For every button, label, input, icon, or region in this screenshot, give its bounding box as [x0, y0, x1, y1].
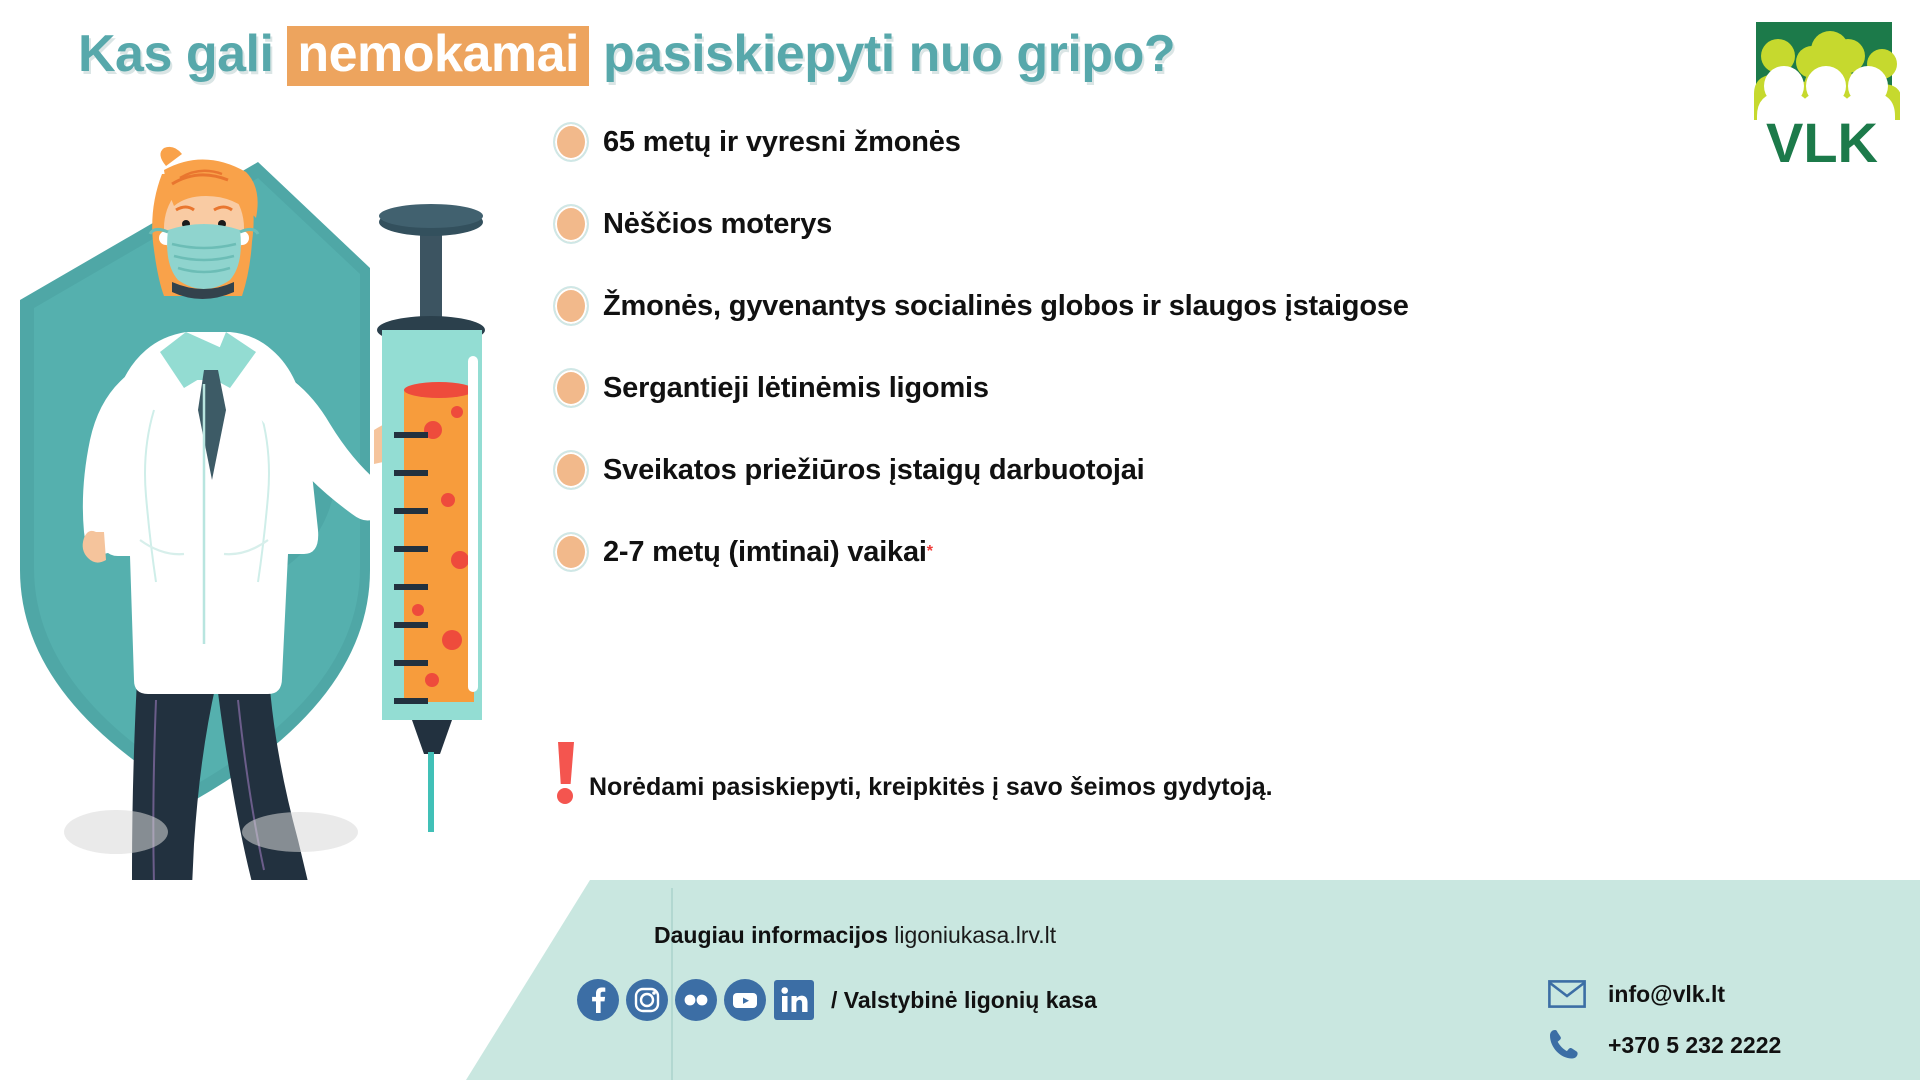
exclamation-mark-icon — [553, 742, 579, 804]
list-item-label: 2-7 metų (imtinai) vaikai — [603, 536, 927, 569]
phone-contact: +370 5 232 2222 — [1548, 1028, 1781, 1062]
list-item-label: Sveikatos priežiūros įstaigų darbuotojai — [603, 454, 1145, 487]
flickr-icon[interactable] — [674, 978, 723, 1022]
page-title: Kas gali nemokamai pasiskiepyti nuo grip… — [78, 24, 1175, 86]
title-part-1: Kas gali — [78, 25, 287, 83]
bullet-icon — [553, 122, 589, 162]
doctor-with-syringe-illustration — [0, 140, 560, 880]
eligibility-list: 65 metų ir vyresni žmonės Nėščios motery… — [553, 122, 1893, 614]
list-item: Nėščios moterys — [553, 204, 1893, 244]
linkedin-icon[interactable] — [772, 978, 821, 1022]
title-highlight: nemokamai — [287, 26, 589, 86]
advisory-note-text: Norėdami pasiskiepyti, kreipkitės į savo… — [589, 773, 1273, 804]
youtube-icon[interactable] — [723, 978, 772, 1022]
bullet-icon — [553, 286, 589, 326]
asterisk-marker: * — [927, 543, 933, 561]
list-item: 65 metų ir vyresni žmonės — [553, 122, 1893, 162]
email-address[interactable]: info@vlk.lt — [1608, 981, 1725, 1008]
list-item: 2-7 metų (imtinai) vaikai * — [553, 532, 1893, 572]
bullet-icon — [553, 204, 589, 244]
list-item-label: Nėščios moterys — [603, 208, 832, 241]
list-item: Žmonės, gyvenantys socialinės globos ir … — [553, 286, 1893, 326]
bullet-icon — [553, 532, 589, 572]
list-item-label: Žmonės, gyvenantys socialinės globos ir … — [603, 290, 1409, 323]
email-contact: info@vlk.lt — [1548, 980, 1725, 1008]
envelope-icon — [1548, 980, 1608, 1008]
bullet-icon — [553, 450, 589, 490]
facebook-icon[interactable] — [576, 978, 625, 1022]
social-handle-label: / Valstybinė ligonių kasa — [831, 987, 1097, 1014]
list-item: Sveikatos priežiūros įstaigų darbuotojai — [553, 450, 1893, 490]
more-info-line: Daugiau informacijos ligoniukasa.lrv.lt — [654, 922, 1056, 949]
list-item-label: Sergantieji lėtinėmis ligomis — [603, 372, 989, 405]
more-info-label: Daugiau informacijos — [654, 922, 888, 948]
poster-root: Kas gali nemokamai pasiskiepyti nuo grip… — [0, 0, 1920, 1080]
title-part-2: pasiskiepyti nuo gripo? — [589, 25, 1175, 83]
instagram-icon[interactable] — [625, 978, 674, 1022]
list-item-label: 65 metų ir vyresni žmonės — [603, 126, 961, 159]
bullet-icon — [553, 368, 589, 408]
social-links: / Valstybinė ligonių kasa — [576, 978, 1097, 1022]
phone-number[interactable]: +370 5 232 2222 — [1608, 1032, 1781, 1059]
phone-icon — [1548, 1028, 1608, 1062]
advisory-note: Norėdami pasiskiepyti, kreipkitės į savo… — [553, 742, 1273, 804]
list-item: Sergantieji lėtinėmis ligomis — [553, 368, 1893, 408]
website-link[interactable]: ligoniukasa.lrv.lt — [894, 922, 1056, 948]
